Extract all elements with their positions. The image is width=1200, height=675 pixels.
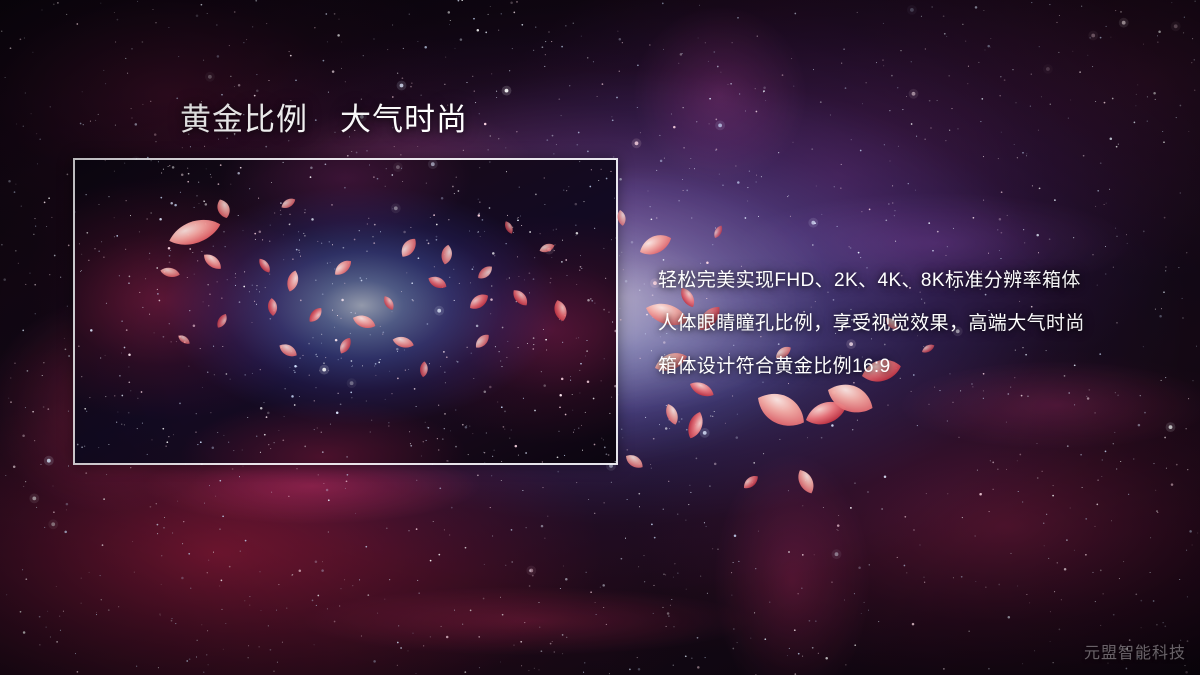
slide-canvas: 黄金比例 大气时尚 bbox=[0, 0, 1200, 675]
framed-image bbox=[73, 158, 618, 465]
picture-petals bbox=[75, 160, 616, 463]
page-title: 黄金比例 大气时尚 bbox=[180, 101, 468, 139]
body-text-block: 轻松完美实现FHD、2K、4K、8K标准分辨率箱体 人体眼睛瞳孔比例，享受视觉效… bbox=[658, 259, 1178, 388]
body-line-1: 轻松完美实现FHD、2K、4K、8K标准分辨率箱体 bbox=[658, 259, 1178, 302]
body-line-3: 箱体设计符合黄金比例16:9 bbox=[658, 345, 1178, 388]
picture-starfield bbox=[75, 160, 616, 463]
watermark: 元盟智能科技 bbox=[1084, 639, 1186, 663]
body-line-2: 人体眼睛瞳孔比例，享受视觉效果，高端大气时尚 bbox=[658, 302, 1178, 345]
picture-content bbox=[75, 160, 616, 463]
